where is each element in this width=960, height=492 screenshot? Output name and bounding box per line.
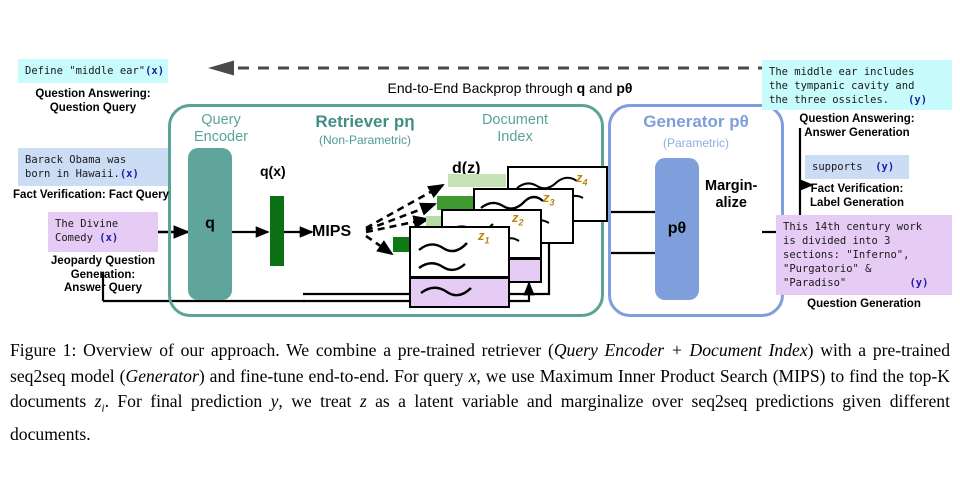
document-card-z1-lines (409, 226, 510, 308)
input-box-fact-verification: Barack Obama was born in Hawaii.(x) (18, 148, 168, 186)
backprop-label-p: pθ (616, 80, 632, 96)
input-3-tag: (x) (99, 232, 118, 244)
output-3-tag: (y) (909, 277, 928, 289)
qx-label: q(x) (260, 163, 286, 179)
retriever-title: Retriever pη (290, 112, 440, 131)
input-box-question-answering: Define "middle ear"(x) (18, 59, 168, 83)
caption-p6: , we treat (278, 391, 359, 411)
caption-p5: . For final prediction (105, 391, 271, 411)
input-2-text: Barack Obama was born in Hawaii. (25, 154, 126, 180)
document-index-label: Document Index (460, 112, 570, 146)
figure-canvas: End-to-End Backprop through q and pθ Ret… (0, 0, 960, 492)
input-1-text: Define "middle ear" (25, 65, 145, 77)
query-encoder-label: Query Encoder (176, 112, 266, 146)
output-box-question-answering: The middle ear includes the tympanic cav… (762, 60, 952, 110)
output-2-tag: (y) (875, 161, 894, 173)
backprop-label-q: q (577, 80, 586, 96)
query-vector (270, 196, 284, 266)
query-encoder-block: q (188, 148, 232, 300)
output-1-text: The middle ear includes the tympanic cav… (769, 66, 914, 106)
output-caption-fact-verification: Fact Verification: Label Generation (762, 183, 952, 210)
caption-i2: Generator (126, 366, 199, 386)
caption-m4: z (360, 391, 367, 411)
input-box-jeopardy: The Divine Comedy (x) (48, 212, 158, 252)
output-1-tag: (y) (908, 94, 927, 106)
mips-label: MIPS (312, 223, 351, 241)
backprop-label-and: and (585, 80, 616, 96)
generator-title: Generator pθ (612, 112, 780, 131)
output-box-fact-verification: supports (y) (805, 155, 909, 179)
document-card-z2-label: z2 (512, 210, 524, 228)
score-bar-z4 (448, 174, 506, 187)
input-1-tag: (x) (145, 65, 164, 77)
output-caption-question-answering: Question Answering: Answer Generation (762, 113, 952, 140)
output-caption-question-generation: Question Generation (776, 298, 952, 312)
backprop-label: End-to-End Backprop through q and pθ (300, 80, 720, 96)
caption-i1: Query Encoder + Document Index (554, 340, 808, 360)
generator-subtitle: (Parametric) (612, 136, 780, 150)
caption-m2: zi (95, 391, 105, 411)
input-caption-fact-verification: Fact Verification: Fact Query (0, 189, 182, 203)
input-2-tag: (x) (120, 168, 139, 180)
caption-p1: Figure 1: Overview of our approach. We c… (10, 340, 554, 360)
figure-caption: Figure 1: Overview of our approach. We c… (10, 338, 950, 448)
output-3-text: This 14th century work is divided into 3… (783, 221, 922, 289)
document-card-z3-label: z3 (543, 190, 555, 208)
input-caption-jeopardy: Jeopardy Question Generation: Answer Que… (20, 255, 186, 296)
input-caption-question-answering: Question Answering: Question Query (8, 88, 178, 115)
output-2-text: supports (812, 161, 875, 173)
caption-p3: ) and fine-tune end-to-end. For query (199, 366, 469, 386)
generator-block: pθ (655, 158, 699, 300)
retriever-subtitle: (Non-Parametric) (290, 133, 440, 147)
backprop-label-prefix: End-to-End Backprop through (388, 80, 577, 96)
output-box-question-generation: This 14th century work is divided into 3… (776, 215, 952, 295)
document-card-z1-label: z1 (478, 228, 490, 246)
document-card-z4-label: z4 (576, 170, 588, 188)
marginalize-label: Margin- alize (705, 178, 757, 212)
